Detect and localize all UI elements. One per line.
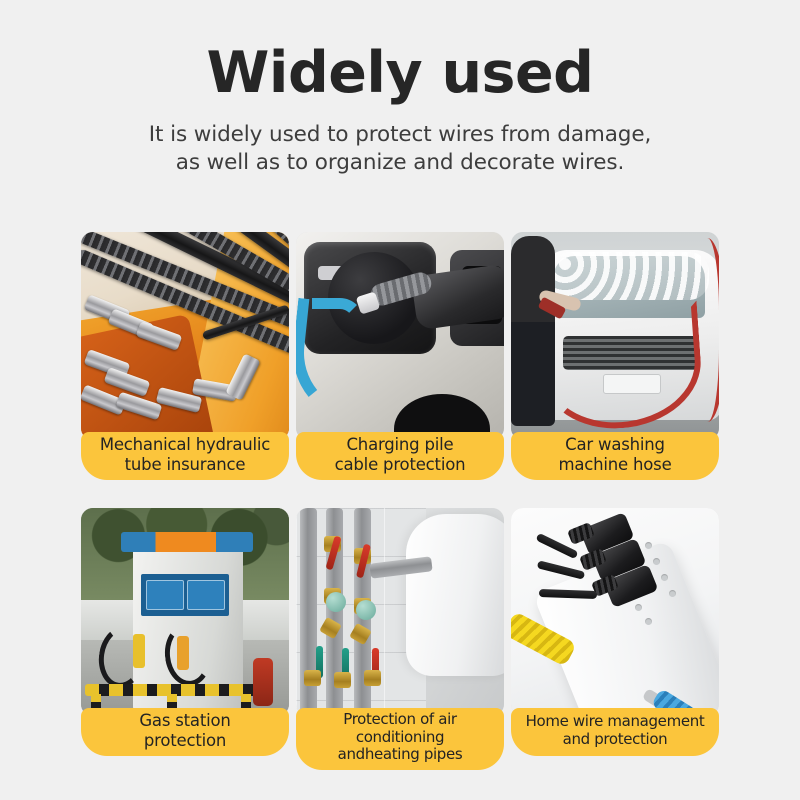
use-case-card-air-conditioning[interactable]: Protection of air conditioning andheatin…: [296, 508, 504, 758]
caption-line-2: andheating pipes: [338, 745, 463, 763]
use-case-caption-gas-station: Gas station protection: [81, 708, 289, 756]
caption-line-2: machine hose: [558, 455, 671, 474]
use-case-image-gas-station: [81, 508, 289, 716]
caption-text: Home wire management and protection: [526, 713, 705, 748]
use-case-image-home-wire: [511, 508, 719, 716]
caption-line-2: tube insurance: [125, 455, 246, 474]
caption-text: Mechanical hydraulic tube insurance: [100, 435, 270, 474]
caption-text: Charging pile cable protection: [335, 435, 466, 474]
power-strip-scene: [511, 508, 719, 716]
use-case-image-charging-pile: [296, 232, 504, 440]
use-case-caption-home-wire: Home wire management and protection: [511, 708, 719, 756]
caption-line-1: Car washing: [565, 435, 665, 454]
header: Widely used It is widely used to protect…: [0, 0, 800, 178]
ev-charging-scene: [296, 232, 504, 440]
car-wash-scene: [511, 232, 719, 440]
page-title: Widely used: [0, 42, 800, 105]
subtitle-line-1: It is widely used to protect wires from …: [0, 121, 800, 150]
use-case-image-hydraulic: [81, 232, 289, 440]
use-case-card-charging-pile[interactable]: Charging pile cable protection: [296, 232, 504, 482]
hvac-pipes-scene: [296, 508, 504, 716]
use-case-card-hydraulic[interactable]: Mechanical hydraulic tube insurance: [81, 232, 289, 482]
caption-line-1: Home wire management: [526, 712, 705, 730]
caption-line-1: Protection of air conditioning: [343, 710, 456, 746]
caption-text: Car washing machine hose: [558, 435, 671, 474]
caption-line-2: cable protection: [335, 455, 466, 474]
use-case-image-air-conditioning: [296, 508, 504, 716]
caption-line-2: protection: [144, 731, 226, 750]
use-case-image-car-washing: [511, 232, 719, 440]
caption-line-1: Gas station: [139, 711, 230, 730]
use-case-caption-hydraulic: Mechanical hydraulic tube insurance: [81, 432, 289, 480]
use-case-caption-car-washing: Car washing machine hose: [511, 432, 719, 480]
use-case-grid: Mechanical hydraulic tube insurance: [81, 232, 719, 780]
subtitle-line-2: as well as to organize and decorate wire…: [0, 149, 800, 178]
caption-line-1: Mechanical hydraulic: [100, 435, 270, 454]
caption-text: Gas station protection: [139, 711, 230, 750]
caption-line-1: Charging pile: [346, 435, 453, 454]
page-subtitle: It is widely used to protect wires from …: [0, 121, 800, 178]
infographic-page: Widely used It is widely used to protect…: [0, 0, 800, 800]
use-case-caption-air-conditioning: Protection of air conditioning andheatin…: [296, 708, 504, 770]
gas-station-scene: [81, 508, 289, 716]
hydraulic-scene: [81, 232, 289, 440]
use-case-card-car-washing[interactable]: Car washing machine hose: [511, 232, 719, 482]
use-case-card-gas-station[interactable]: Gas station protection: [81, 508, 289, 758]
caption-text: Protection of air conditioning andheatin…: [302, 711, 498, 764]
caption-line-2: and protection: [563, 730, 668, 748]
use-case-caption-charging-pile: Charging pile cable protection: [296, 432, 504, 480]
use-case-card-home-wire[interactable]: Home wire management and protection: [511, 508, 719, 758]
